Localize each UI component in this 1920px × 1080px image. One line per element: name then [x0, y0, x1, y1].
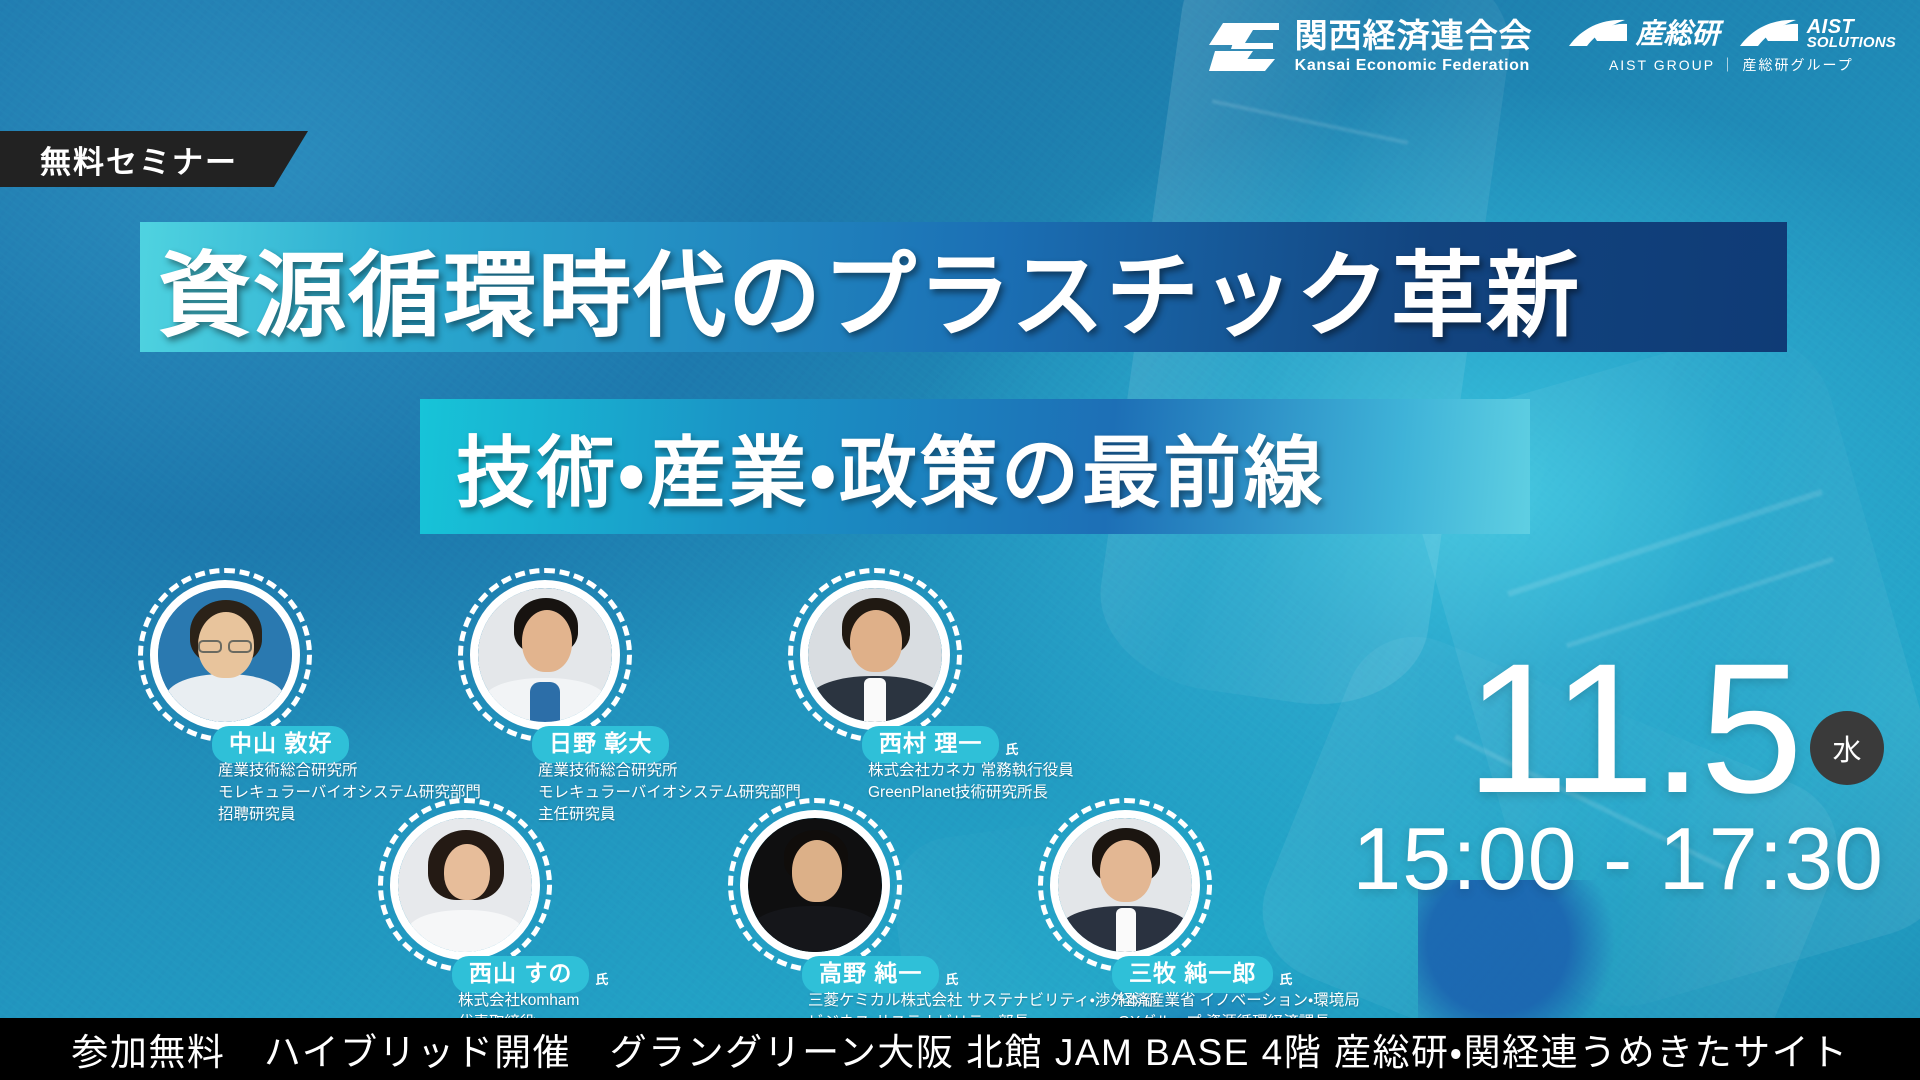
speaker-portrait: [808, 588, 942, 722]
aist-solutions-swoosh-icon: [1738, 19, 1800, 49]
speaker-photo: [800, 580, 950, 730]
kanren-mark-icon: [1209, 19, 1281, 75]
photo-solid-ring: [150, 580, 300, 730]
speaker-portrait: [748, 818, 882, 952]
photo-solid-ring: [470, 580, 620, 730]
event-date-block: 11.5 水 15:00 - 17:30: [1284, 648, 1884, 903]
affiliation-line: GreenPlanet技術研究所長: [868, 782, 1074, 804]
speaker-photo: [740, 810, 890, 960]
photo-solid-ring: [390, 810, 540, 960]
speaker-portrait: [1058, 818, 1192, 952]
speaker-name-suffix: 氏: [595, 969, 608, 993]
aist-sanso-ken-logo: 産総研: [1567, 19, 1720, 49]
speaker-name-badge: 高野 純一 氏: [802, 956, 958, 993]
speaker-name: 中山 敦好: [212, 726, 349, 763]
event-date: 11.5: [1466, 648, 1800, 811]
footer-text: 参加無料 ハイブリッド開催 グラングリーン大阪 北館 JAM BASE 4階 産…: [71, 1022, 1848, 1076]
affiliation-line: 株式会社カネカ 常務執行役員: [868, 760, 1074, 782]
kanren-jp-name: 関西経済連合会: [1295, 19, 1533, 52]
seminar-poster: 関西経済連合会 Kansai Economic Federation 産総研: [0, 0, 1920, 1080]
aist-group-logo: 産総研 AIST SOLUTIONS AIST GROUP ｜ 産総研グループ: [1567, 18, 1896, 75]
speaker-portrait: [478, 588, 612, 722]
event-weekday-badge: 水: [1810, 711, 1884, 785]
affiliation-line: 産業技術総合研究所: [538, 760, 801, 782]
sub-title: 技術・産業・政策の最前線: [456, 411, 1325, 523]
speaker-name-badge: 日野 彰大: [532, 726, 675, 763]
speaker-photo: [470, 580, 620, 730]
speaker-name: 西山 すの: [452, 956, 589, 993]
aist-jp-name: 産総研: [1636, 20, 1720, 48]
speaker-card: 中山 敦好 産業技術総合研究所 モレキュラーバイオシステム研究部門 招聘研究員: [150, 580, 300, 730]
speaker-card: 三牧 純一郎 氏 経済産業省 イノベーション・環境局 GXグループ 資源循環経済…: [1050, 810, 1200, 960]
affiliation-line: 三菱ケミカル株式会社 サステナビリティ・渉外本部: [808, 990, 1157, 1012]
speaker-name-badge: 西山 すの 氏: [452, 956, 608, 993]
photo-solid-ring: [740, 810, 890, 960]
speaker-name-badge: 中山 敦好: [212, 726, 355, 763]
speaker-card: 西山 すの 氏 株式会社komham 代表取締役: [390, 810, 540, 960]
event-time: 15:00 - 17:30: [1284, 815, 1884, 903]
kanren-en-name: Kansai Economic Federation: [1295, 58, 1533, 74]
affiliation-line: モレキュラーバイオシステム研究部門: [538, 782, 801, 804]
speaker-name: 三牧 純一郎: [1112, 956, 1273, 993]
logo-bar: 関西経済連合会 Kansai Economic Federation 産総研: [1209, 18, 1896, 75]
aist-group-subtitle: AIST GROUP ｜ 産総研グループ: [1609, 55, 1854, 75]
affiliation-line: 産業技術総合研究所: [218, 760, 481, 782]
speaker-list: 中山 敦好 産業技術総合研究所 モレキュラーバイオシステム研究部門 招聘研究員: [0, 560, 1300, 1020]
footer-bar: 参加無料 ハイブリッド開催 グラングリーン大阪 北館 JAM BASE 4階 産…: [0, 1018, 1920, 1080]
speaker-photo: [390, 810, 540, 960]
speaker-name: 日野 彰大: [532, 726, 669, 763]
speaker-photo: [150, 580, 300, 730]
photo-solid-ring: [1050, 810, 1200, 960]
speaker-card: 日野 彰大 産業技術総合研究所 モレキュラーバイオシステム研究部門 主任研究員: [470, 580, 620, 730]
speaker-name-badge: 西村 理一 氏: [862, 726, 1018, 763]
free-seminar-ribbon: 無料セミナー: [0, 131, 308, 187]
speaker-name: 高野 純一: [802, 956, 939, 993]
aist-swoosh-icon: [1567, 19, 1629, 49]
speaker-card: 西村 理一 氏 株式会社カネカ 常務執行役員 GreenPlanet技術研究所長: [800, 580, 950, 730]
affiliation-line: 経済産業省 イノベーション・環境局: [1118, 990, 1360, 1012]
aist-solutions-logo: AIST SOLUTIONS: [1738, 18, 1896, 50]
speaker-name-badge: 三牧 純一郎 氏: [1112, 956, 1292, 993]
sub-title-bar: 技術・産業・政策の最前線: [420, 399, 1530, 534]
speaker-name: 西村 理一: [862, 726, 999, 763]
speaker-photo: [1050, 810, 1200, 960]
speaker-portrait: [398, 818, 532, 952]
main-title-bar: 資源循環時代のプラスチック革新: [140, 222, 1787, 352]
photo-solid-ring: [800, 580, 950, 730]
affiliation-line: 株式会社komham: [458, 990, 579, 1012]
speaker-affiliation: 株式会社カネカ 常務執行役員 GreenPlanet技術研究所長: [868, 760, 1074, 804]
main-title: 資源循環時代のプラスチック革新: [158, 220, 1581, 355]
speaker-card: 高野 純一 氏 三菱ケミカル株式会社 サステナビリティ・渉外本部 ビジネス・サス…: [740, 810, 890, 960]
free-seminar-label: 無料セミナー: [40, 137, 238, 182]
event-date-row: 11.5 水: [1284, 648, 1884, 811]
aist-solutions-line2: SOLUTIONS: [1807, 36, 1896, 50]
speaker-portrait: [158, 588, 292, 722]
kansai-economic-federation-logo: 関西経済連合会 Kansai Economic Federation: [1209, 19, 1533, 75]
